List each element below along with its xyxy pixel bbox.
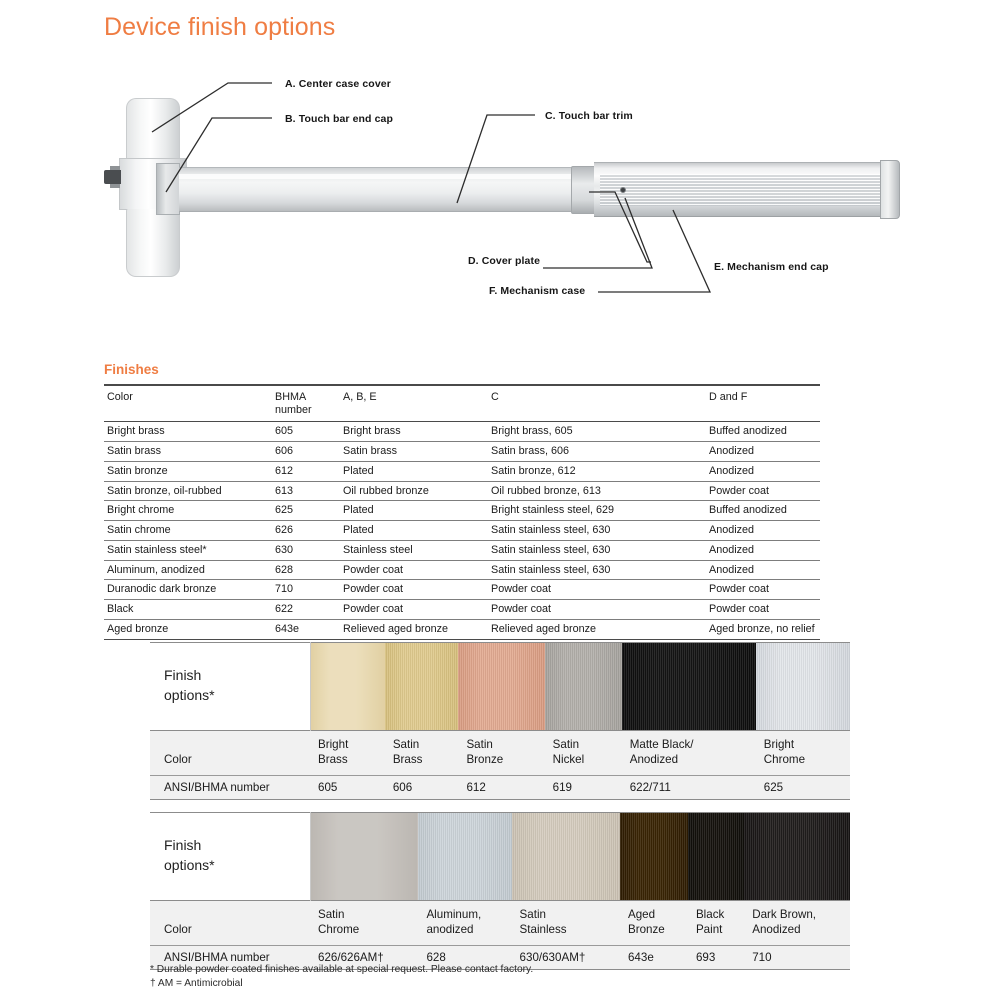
cell-color: Satin bronze bbox=[104, 461, 272, 481]
cell-abe: Powder coat bbox=[340, 580, 488, 600]
table-row: Satin bronze 612 Plated Satin bronze, 61… bbox=[104, 461, 820, 481]
table-row: Black 622 Powder coat Powder coat Powder… bbox=[104, 600, 820, 620]
table-row: Aluminum, anodized 628 Powder coat Satin… bbox=[104, 560, 820, 580]
finishes-section-title: Finishes bbox=[104, 362, 159, 377]
swatch-name-aged-bronze: Aged Bronze bbox=[620, 901, 688, 946]
finish-options-label-2: Finish options* bbox=[150, 813, 310, 901]
swatch-name-bright-brass: Bright Brass bbox=[310, 731, 385, 776]
swatch-bright-brass bbox=[310, 643, 385, 731]
cell-color: Satin brass bbox=[104, 442, 272, 462]
cell-c: Satin stainless steel, 630 bbox=[488, 560, 706, 580]
callout-c-touch-bar-trim: C. Touch bar trim bbox=[545, 110, 633, 122]
finishes-header-row: Color BHMA number A, B, E C D and F bbox=[104, 385, 820, 422]
swatch-number-row-label: ANSI/BHMA number bbox=[150, 775, 310, 799]
cell-df: Aged bronze, no relief bbox=[706, 619, 820, 639]
cell-c: Satin stainless steel, 630 bbox=[488, 521, 706, 541]
swatch-number-row: ANSI/BHMA number 605 606 612 619 622/711… bbox=[150, 775, 850, 799]
finishes-col-bhma-line2: number bbox=[275, 404, 312, 416]
finishes-col-bhma-line1: BHMA bbox=[275, 391, 306, 403]
touch-bar-end-cap bbox=[156, 163, 180, 215]
cell-abe: Plated bbox=[340, 521, 488, 541]
finishes-col-color: Color bbox=[104, 385, 272, 422]
swatch-name-satin-bronze: Satin Bronze bbox=[458, 731, 544, 776]
cell-df: Anodized bbox=[706, 540, 820, 560]
table-row: Bright brass 605 Bright brass Bright bra… bbox=[104, 422, 820, 442]
swatch-number-black-paint: 693 bbox=[688, 945, 744, 969]
cell-df: Buffed anodized bbox=[706, 501, 820, 521]
finish-options-label-line2: options* bbox=[164, 685, 310, 705]
mounting-tab bbox=[104, 170, 121, 184]
cell-bhma: 605 bbox=[272, 422, 340, 442]
swatch-name-line2: Anodized bbox=[752, 923, 846, 938]
cell-abe: Plated bbox=[340, 501, 488, 521]
footnote-asterisk: * Durable powder coated finishes availab… bbox=[150, 963, 533, 977]
cover-plate-screw bbox=[620, 187, 626, 193]
cell-abe: Relieved aged bronze bbox=[340, 619, 488, 639]
finishes-table-body: Bright brass 605 Bright brass Bright bra… bbox=[104, 422, 820, 639]
table-row: Bright chrome 625 Plated Bright stainles… bbox=[104, 501, 820, 521]
cell-color: Satin chrome bbox=[104, 521, 272, 541]
mechanism-case-ribs bbox=[600, 174, 880, 206]
device-diagram: A. Center case cover B. Touch bar end ca… bbox=[0, 70, 1000, 320]
cell-bhma: 628 bbox=[272, 560, 340, 580]
swatch-number-matte-black: 622/711 bbox=[622, 775, 756, 799]
cell-color: Aged bronze bbox=[104, 619, 272, 639]
swatch-name-aluminum-anodized: Aluminum, anodized bbox=[418, 901, 511, 946]
cell-abe: Bright brass bbox=[340, 422, 488, 442]
swatch-name-satin-nickel: Satin Nickel bbox=[545, 731, 622, 776]
cell-bhma: 710 bbox=[272, 580, 340, 600]
table-row: Satin brass 606 Satin brass Satin brass,… bbox=[104, 442, 820, 462]
cell-color: Satin stainless steel* bbox=[104, 540, 272, 560]
finish-options-label-line1: Finish bbox=[164, 665, 310, 685]
swatch-name-black-paint: Black Paint bbox=[688, 901, 744, 946]
swatch-name-line2: anodized bbox=[426, 923, 507, 938]
swatch-satin-bronze bbox=[458, 643, 544, 731]
cell-df: Powder coat bbox=[706, 580, 820, 600]
cell-color: Black bbox=[104, 600, 272, 620]
swatch-name-line2: Stainless bbox=[520, 923, 616, 938]
cell-df: Anodized bbox=[706, 560, 820, 580]
cell-color: Bright chrome bbox=[104, 501, 272, 521]
cell-bhma: 626 bbox=[272, 521, 340, 541]
swatch-name-line1: Aged bbox=[628, 908, 684, 923]
swatch-name-line2: Anodized bbox=[630, 753, 752, 768]
swatch-name-satin-stainless: Satin Stainless bbox=[512, 901, 620, 946]
cell-bhma: 606 bbox=[272, 442, 340, 462]
swatch-name-dark-brown: Dark Brown, Anodized bbox=[744, 901, 850, 946]
cell-color: Satin bronze, oil-rubbed bbox=[104, 481, 272, 501]
cell-abe: Stainless steel bbox=[340, 540, 488, 560]
callout-f-mechanism-case: F. Mechanism case bbox=[489, 285, 585, 297]
swatch-name-line2: Chrome bbox=[764, 753, 846, 768]
cell-df: Anodized bbox=[706, 461, 820, 481]
finish-options-label-line1: Finish bbox=[164, 835, 310, 855]
cell-c: Satin bronze, 612 bbox=[488, 461, 706, 481]
callout-b-touch-bar-end-cap: B. Touch bar end cap bbox=[285, 113, 393, 125]
swatch-satin-nickel bbox=[545, 643, 622, 731]
swatch-name-line1: Satin bbox=[553, 738, 618, 753]
table-row: Satin chrome 626 Plated Satin stainless … bbox=[104, 521, 820, 541]
swatch-name-line1: Satin bbox=[393, 738, 455, 753]
center-case-cover-top bbox=[126, 98, 180, 160]
swatch-name-line1: Aluminum, bbox=[426, 908, 507, 923]
cell-df: Buffed anodized bbox=[706, 422, 820, 442]
cell-abe: Powder coat bbox=[340, 600, 488, 620]
callout-a-center-case-cover: A. Center case cover bbox=[285, 78, 391, 90]
page-title: Device finish options bbox=[104, 13, 335, 42]
swatch-aged-bronze bbox=[620, 813, 688, 901]
cell-bhma: 625 bbox=[272, 501, 340, 521]
finish-options-table-2: Finish options* Color Satin Chrome Alumi… bbox=[150, 812, 850, 970]
cell-abe: Satin brass bbox=[340, 442, 488, 462]
swatch-row: Finish options* bbox=[150, 813, 850, 901]
finishes-col-bhma: BHMA number bbox=[272, 385, 340, 422]
footnotes: * Durable powder coated finishes availab… bbox=[150, 963, 533, 992]
center-case-cover-bottom bbox=[126, 209, 180, 277]
swatch-aluminum-anodized bbox=[418, 813, 511, 901]
swatch-number-satin-bronze: 612 bbox=[458, 775, 544, 799]
cell-bhma: 630 bbox=[272, 540, 340, 560]
cell-c: Powder coat bbox=[488, 600, 706, 620]
swatch-name-line1: Dark Brown, bbox=[752, 908, 846, 923]
cell-c: Powder coat bbox=[488, 580, 706, 600]
finishes-col-c: C bbox=[488, 385, 706, 422]
mechanism-end-cap bbox=[880, 160, 900, 219]
swatch-name-line2: Brass bbox=[318, 753, 381, 768]
cell-color: Aluminum, anodized bbox=[104, 560, 272, 580]
footnote-dagger: † AM = Antimicrobial bbox=[150, 977, 533, 991]
finish-options-table-1: Finish options* Color Bright Brass Satin… bbox=[150, 642, 850, 800]
swatch-number-bright-brass: 605 bbox=[310, 775, 385, 799]
swatch-name-line1: Satin bbox=[318, 908, 414, 923]
cell-c: Satin stainless steel, 630 bbox=[488, 540, 706, 560]
table-row: Satin bronze, oil-rubbed 613 Oil rubbed … bbox=[104, 481, 820, 501]
swatch-satin-brass bbox=[385, 643, 459, 731]
cell-c: Relieved aged bronze bbox=[488, 619, 706, 639]
swatch-number-bright-chrome: 625 bbox=[756, 775, 850, 799]
swatch-name-line1: Black bbox=[696, 908, 740, 923]
swatch-color-row-label: Color bbox=[150, 731, 310, 776]
swatch-name-satin-chrome: Satin Chrome bbox=[310, 901, 418, 946]
finish-options-label-1: Finish options* bbox=[150, 643, 310, 731]
touch-bar-highlight bbox=[179, 174, 583, 179]
swatch-name-line1: Bright bbox=[318, 738, 381, 753]
swatch-name-satin-brass: Satin Brass bbox=[385, 731, 459, 776]
cell-c: Oil rubbed bronze, 613 bbox=[488, 481, 706, 501]
swatch-number-satin-nickel: 619 bbox=[545, 775, 622, 799]
finishes-col-abe: A, B, E bbox=[340, 385, 488, 422]
table-row: Aged bronze 643e Relieved aged bronze Re… bbox=[104, 619, 820, 639]
swatch-satin-chrome bbox=[310, 813, 418, 901]
swatch-dark-brown bbox=[744, 813, 850, 901]
swatch-name-line2: Nickel bbox=[553, 753, 618, 768]
swatch-color-row: Color Satin Chrome Aluminum, anodized Sa… bbox=[150, 901, 850, 946]
swatch-color-row: Color Bright Brass Satin Brass Satin Bro… bbox=[150, 731, 850, 776]
swatch-name-line2: Paint bbox=[696, 923, 740, 938]
table-row: Satin stainless steel* 630 Stainless ste… bbox=[104, 540, 820, 560]
swatch-number-aged-bronze: 643e bbox=[620, 945, 688, 969]
cell-df: Powder coat bbox=[706, 600, 820, 620]
callout-d-cover-plate: D. Cover plate bbox=[468, 255, 540, 267]
cell-color: Bright brass bbox=[104, 422, 272, 442]
cell-abe: Plated bbox=[340, 461, 488, 481]
finish-options-label-line2: options* bbox=[164, 855, 310, 875]
cell-bhma: 612 bbox=[272, 461, 340, 481]
device-finish-options-page: Device finish options A. bbox=[0, 0, 1000, 1000]
swatch-matte-black bbox=[622, 643, 756, 731]
swatch-bright-chrome bbox=[756, 643, 850, 731]
swatch-row: Finish options* bbox=[150, 643, 850, 731]
callout-e-mechanism-end-cap: E. Mechanism end cap bbox=[714, 261, 829, 273]
swatch-name-line2: Bronze bbox=[628, 923, 684, 938]
swatch-name-line2: Brass bbox=[393, 753, 455, 768]
cell-df: Anodized bbox=[706, 442, 820, 462]
swatch-name-line1: Bright bbox=[764, 738, 846, 753]
cell-df: Powder coat bbox=[706, 481, 820, 501]
cell-c: Bright brass, 605 bbox=[488, 422, 706, 442]
cell-bhma: 613 bbox=[272, 481, 340, 501]
swatch-name-line1: Matte Black/ bbox=[630, 738, 752, 753]
swatch-number-satin-brass: 606 bbox=[385, 775, 459, 799]
cell-abe: Powder coat bbox=[340, 560, 488, 580]
cell-c: Bright stainless steel, 629 bbox=[488, 501, 706, 521]
finishes-table: Color BHMA number A, B, E C D and F Brig… bbox=[104, 384, 820, 640]
cell-c: Satin brass, 606 bbox=[488, 442, 706, 462]
cell-bhma: 622 bbox=[272, 600, 340, 620]
swatch-name-line2: Bronze bbox=[466, 753, 540, 768]
swatch-satin-stainless bbox=[512, 813, 620, 901]
cell-bhma: 643e bbox=[272, 619, 340, 639]
swatch-name-matte-black: Matte Black/ Anodized bbox=[622, 731, 756, 776]
swatch-name-line2: Chrome bbox=[318, 923, 414, 938]
cell-color: Duranodic dark bronze bbox=[104, 580, 272, 600]
cell-df: Anodized bbox=[706, 521, 820, 541]
cell-abe: Oil rubbed bronze bbox=[340, 481, 488, 501]
finishes-col-df: D and F bbox=[706, 385, 820, 422]
finishes-table-head: Color BHMA number A, B, E C D and F bbox=[104, 385, 820, 422]
swatch-name-line1: Satin bbox=[520, 908, 616, 923]
swatch-black-paint bbox=[688, 813, 744, 901]
swatch-color-row-label: Color bbox=[150, 901, 310, 946]
table-row: Duranodic dark bronze 710 Powder coat Po… bbox=[104, 580, 820, 600]
swatch-name-bright-chrome: Bright Chrome bbox=[756, 731, 850, 776]
swatch-name-line1: Satin bbox=[466, 738, 540, 753]
swatch-number-dark-brown: 710 bbox=[744, 945, 850, 969]
